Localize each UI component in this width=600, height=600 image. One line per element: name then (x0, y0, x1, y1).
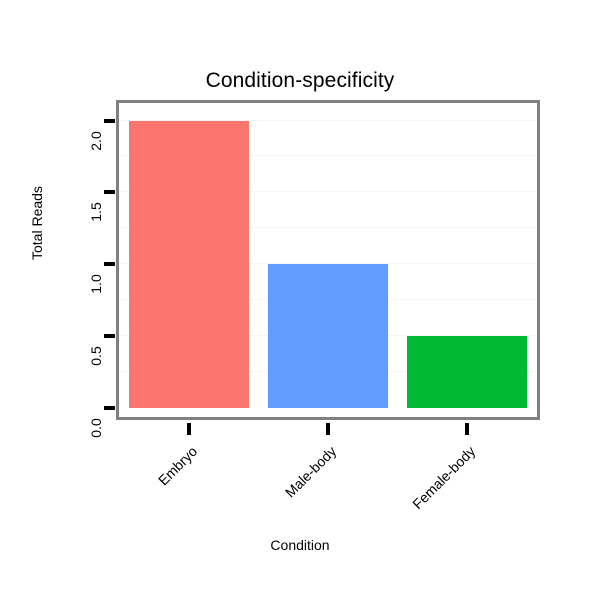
x-tick-label: Male-body (257, 443, 339, 525)
y-tick-label: 1.5 (89, 192, 103, 232)
x-tick-label: Female-body (397, 443, 479, 525)
x-tick-mark (326, 423, 330, 435)
x-tick-label: Embryo (118, 443, 200, 525)
chart-title: Condition-specificity (0, 68, 600, 94)
y-tick-mark (104, 119, 115, 123)
y-axis-title: Total Reads (30, 186, 44, 260)
y-tick-label: 2.0 (89, 121, 103, 161)
y-tick-mark (104, 190, 115, 194)
y-tick-label: 0.5 (89, 336, 103, 376)
bar-female-body (407, 336, 527, 408)
y-tick-label: 1.0 (89, 264, 103, 304)
y-tick-label: 0.0 (89, 408, 103, 448)
y-tick-mark (104, 262, 115, 266)
x-axis-title: Condition (0, 537, 600, 553)
plot-area (119, 103, 537, 417)
x-tick-mark (465, 423, 469, 435)
bar-chart-figure: Condition-specificity Total Reads 0.00.5… (0, 0, 600, 600)
x-tick-mark (187, 423, 191, 435)
bar-male-body (268, 264, 388, 408)
y-tick-mark (104, 334, 115, 338)
y-tick-mark (104, 406, 115, 410)
plot-panel (116, 100, 540, 420)
bar-embryo (129, 121, 249, 409)
